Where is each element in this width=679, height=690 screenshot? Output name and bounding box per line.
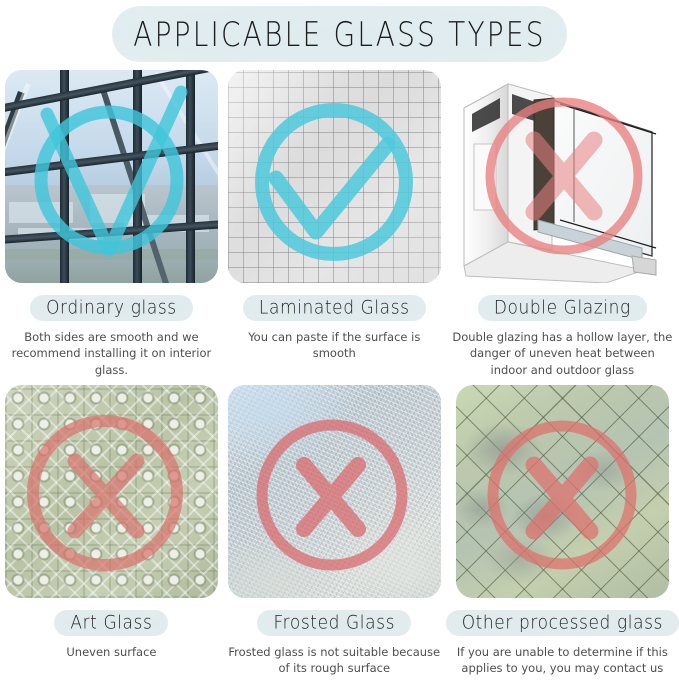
glass-type-card-other-processed-glass: Other processed glass If you are unable … — [446, 385, 679, 690]
check-mark-icon — [5, 70, 218, 283]
ordinary-glass-photo — [5, 70, 218, 283]
infographic-page: APPLICABLE GLASS TYPES — [0, 0, 679, 690]
glass-type-label-pill: Ordinary glass — [30, 295, 193, 321]
circled-x-mark-icon — [228, 385, 441, 598]
glass-type-caption: If you are unable to determine if this a… — [452, 644, 673, 677]
laminated-glass-photo — [228, 70, 441, 283]
glass-type-caption: Uneven surface — [5, 644, 217, 660]
glass-type-label-pill: Double Glazing — [478, 295, 647, 321]
glass-type-card-art-glass: Art Glass Uneven surface — [0, 385, 223, 690]
glass-type-label-pill: Art Glass — [54, 610, 168, 636]
glass-type-caption: Double glazing has a hollow layer, the d… — [452, 329, 673, 378]
glass-type-label-pill: Laminated Glass — [243, 295, 426, 321]
glass-type-label: Art Glass — [70, 612, 152, 634]
art-glass-photo — [5, 385, 218, 598]
double-glazing-photo — [456, 70, 669, 283]
glass-type-grid: Ordinary glass Both sides are smooth and… — [0, 70, 679, 690]
circled-check-mark-icon — [228, 70, 441, 283]
glass-type-card-double-glazing: Double Glazing Double glazing has a holl… — [446, 70, 679, 385]
glass-type-label: Laminated Glass — [259, 297, 410, 319]
glass-type-label: Double Glazing — [494, 297, 631, 319]
page-title: APPLICABLE GLASS TYPES — [133, 14, 546, 54]
glass-type-caption: Frosted glass is not suitable because of… — [228, 644, 440, 677]
glass-type-label-pill: Frosted Glass — [257, 610, 411, 636]
glass-type-label-pill: Other processed glass — [446, 610, 679, 636]
glass-type-caption: Both sides are smooth and we recommend i… — [5, 329, 217, 378]
circled-x-mark-icon — [5, 385, 218, 598]
glass-type-label: Other processed glass — [462, 612, 663, 634]
circled-x-mark-icon — [456, 385, 669, 598]
frosted-glass-photo — [228, 385, 441, 598]
glass-type-card-ordinary-glass: Ordinary glass Both sides are smooth and… — [0, 70, 223, 385]
glass-type-card-frosted-glass: Frosted Glass Frosted glass is not suita… — [223, 385, 446, 690]
page-title-banner: APPLICABLE GLASS TYPES — [112, 6, 567, 62]
glass-type-label: Frosted Glass — [273, 612, 395, 634]
glass-type-caption: You can paste if the surface is smooth — [228, 329, 440, 362]
other-processed-glass-photo — [456, 385, 669, 598]
glass-type-card-laminated-glass: Laminated Glass You can paste if the sur… — [223, 70, 446, 385]
glass-type-label: Ordinary glass — [46, 297, 177, 319]
circled-x-mark-icon — [456, 70, 669, 283]
